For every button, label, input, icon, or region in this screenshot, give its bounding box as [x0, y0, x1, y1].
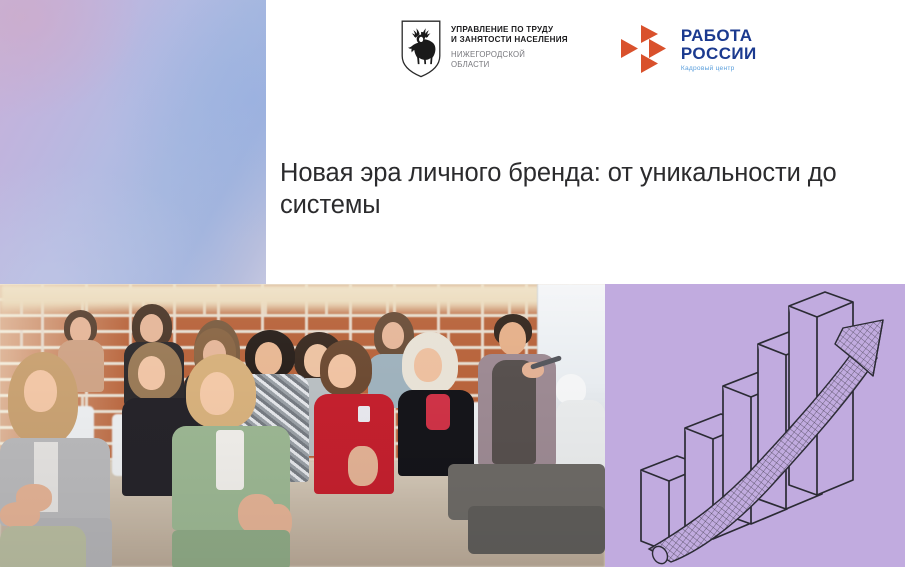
logo-row: УПРАВЛЕНИЕ ПО ТРУДУ И ЗАНЯТОСТИ НАСЕЛЕНИ… — [401, 20, 757, 78]
rr-word-2: РОССИИ — [681, 45, 757, 62]
growth-illustration-panel — [605, 284, 905, 567]
nizhny-novgorod-deer-coat-of-arms-icon — [401, 20, 441, 78]
audience-photo — [0, 284, 605, 567]
govt-line-4: ОБЛАСТИ — [451, 60, 568, 70]
govt-line-3: НИЖЕГОРОДСКОЙ — [451, 50, 568, 60]
audience-member — [470, 358, 560, 394]
audience-member — [0, 480, 86, 567]
slide-header-area: УПРАВЛЕНИЕ ПО ТРУДУ И ЗАНЯТОСТИ НАСЕЛЕНИ… — [0, 0, 905, 284]
rr-subtitle: Кадровый центр — [681, 65, 757, 72]
govt-line-2: И ЗАНЯТОСТИ НАСЕЛЕНИЯ — [451, 35, 568, 45]
government-logo: УПРАВЛЕНИЕ ПО ТРУДУ И ЗАНЯТОСТИ НАСЕЛЕНИ… — [401, 20, 568, 78]
rabota-rossii-logo: РАБОТА РОССИИ Кадровый центр — [620, 20, 757, 74]
audience-member — [314, 340, 394, 490]
rabota-rossii-text: РАБОТА РОССИИ Кадровый центр — [681, 26, 757, 72]
purple-blue-gradient-block — [0, 0, 266, 284]
audience-member — [172, 354, 290, 567]
govt-line-1: УПРАВЛЕНИЕ ПО ТРУДУ — [451, 25, 568, 35]
audience-member — [448, 444, 605, 567]
slide-media-area — [0, 284, 905, 567]
rr-word-1: РАБОТА — [681, 27, 757, 44]
presentation-slide: УПРАВЛЕНИЕ ПО ТРУДУ И ЗАНЯТОСТИ НАСЕЛЕНИ… — [0, 0, 905, 567]
ascending-bar-chart-with-growth-arrow-icon — [605, 284, 905, 567]
government-logo-text: УПРАВЛЕНИЕ ПО ТРУДУ И ЗАНЯТОСТИ НАСЕЛЕНИ… — [451, 20, 568, 70]
four-orange-triangles-mark-icon — [620, 24, 672, 74]
slide-title: Новая эра личного бренда: от уникальност… — [280, 157, 870, 221]
